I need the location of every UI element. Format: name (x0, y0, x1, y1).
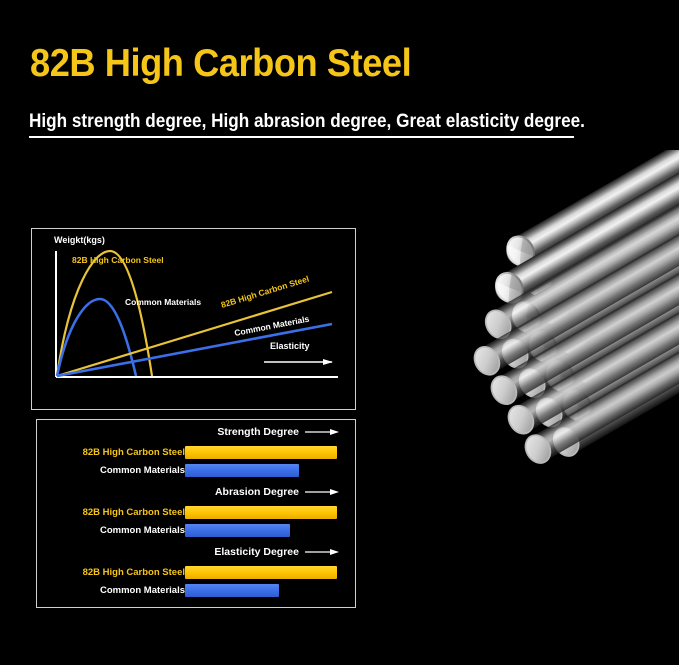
group-title: Strength Degree (217, 426, 299, 438)
steel-rods-photo (356, 150, 679, 650)
group-header-abrasion: Abrasion Degree (215, 486, 339, 498)
bar-row-premium: 82B High Carbon Steel (37, 506, 355, 519)
x-axis-label: Elasticity (270, 341, 310, 351)
bar-fill-premium (185, 446, 337, 459)
curve-premium-label: 82B High Carbon Steel (72, 255, 164, 265)
bar-label-premium: 82B High Carbon Steel (83, 506, 185, 519)
group-title: Abrasion Degree (215, 486, 299, 498)
bar-track (185, 584, 337, 597)
arrow-right-icon (305, 548, 339, 556)
page-subtitle: High strength degree, High abrasion degr… (29, 110, 585, 133)
bar-fill-premium (185, 506, 337, 519)
bar-track (185, 446, 337, 459)
bar-row-common: Common Materials (37, 584, 355, 597)
bar-fill-common (185, 464, 299, 477)
bar-label-common: Common Materials (100, 524, 185, 537)
bar-row-common: Common Materials (37, 464, 355, 477)
arrow-right-icon (305, 488, 339, 496)
bar-track (185, 506, 337, 519)
bar-fill-premium (185, 566, 337, 579)
bar-label-premium: 82B High Carbon Steel (83, 566, 185, 579)
product-banner: 82B High Carbon Steel High strength degr… (0, 0, 679, 665)
curve-premium (57, 251, 152, 376)
line-chart: Weigkt(kgs) 82B High Carbon Steel Common… (32, 229, 354, 408)
bar-label-premium: 82B High Carbon Steel (83, 446, 185, 459)
bar-row-premium: 82B High Carbon Steel (37, 446, 355, 459)
y-axis-label: Weigkt(kgs) (54, 235, 105, 245)
bar-track (185, 566, 337, 579)
curve-common-label: Common Materials (125, 297, 201, 307)
bar-track (185, 464, 337, 477)
line-premium-label: 82B High Carbon Steel (220, 274, 311, 310)
bar-label-common: Common Materials (100, 464, 185, 477)
steel-rods-illustration (356, 150, 679, 650)
bar-chart-panel: Strength Degree 82B High Carbon Steel Co… (36, 419, 356, 608)
bar-label-common: Common Materials (100, 584, 185, 597)
group-header-strength: Strength Degree (217, 426, 339, 438)
group-title: Elasticity Degree (214, 546, 299, 558)
group-header-elasticity: Elasticity Degree (214, 546, 339, 558)
bar-row-common: Common Materials (37, 524, 355, 537)
page-title: 82B High Carbon Steel (30, 42, 411, 86)
bar-fill-common (185, 584, 279, 597)
bar-row-premium: 82B High Carbon Steel (37, 566, 355, 579)
bar-track (185, 524, 337, 537)
bar-fill-common (185, 524, 290, 537)
line-chart-panel: Weigkt(kgs) 82B High Carbon Steel Common… (31, 228, 356, 410)
arrow-right-icon (305, 428, 339, 436)
subtitle-underline (29, 136, 574, 138)
